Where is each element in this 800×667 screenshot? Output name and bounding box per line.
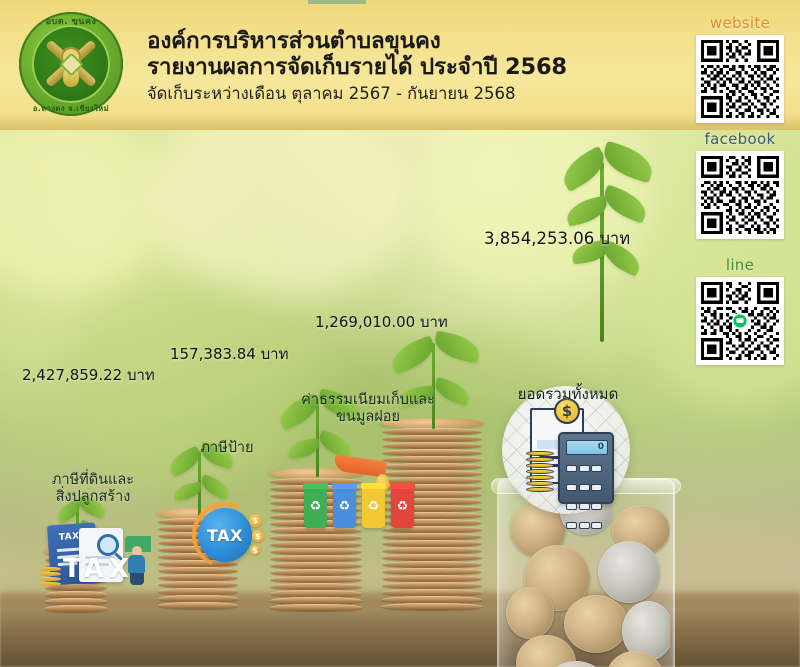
qr-line-label: line bbox=[680, 256, 800, 274]
caption-line-2: ขนมูลฝอย bbox=[298, 409, 438, 426]
qr-line[interactable]: line bbox=[680, 256, 800, 369]
calculator-money-icon: $ 0 bbox=[502, 386, 630, 514]
calculator-keypad bbox=[566, 460, 610, 536]
caption-line-1: ค่าธรรมเนียมเก็บและ bbox=[298, 392, 438, 409]
bokeh-blob bbox=[0, 130, 160, 290]
qr-facebook-image[interactable] bbox=[696, 151, 784, 239]
value-garbage-fee: 1,269,010.00 บาท bbox=[315, 310, 448, 334]
bin-yellow: ♻ bbox=[362, 488, 385, 528]
bokeh-blob bbox=[150, 130, 410, 300]
person-icon bbox=[127, 546, 147, 586]
caption-garbage-fee: ค่าธรรมเนียมเก็บและ ขนมูลฝอย bbox=[298, 392, 438, 426]
value-grand-total: 3,854,253.06 บาท bbox=[484, 226, 630, 252]
tax-circle-icon: TAX $ $ $ bbox=[190, 502, 264, 568]
header-text-group: องค์การบริหารส่วนตำบลขุนคง รายงานผลการจั… bbox=[147, 28, 667, 104]
qr-line-image[interactable] bbox=[696, 277, 784, 365]
caption-line-2: สิ่งปลูกสร้าง bbox=[18, 489, 168, 506]
value-signboard-tax: 157,383.84 บาท bbox=[170, 342, 288, 366]
bin-green: ♻ bbox=[304, 488, 327, 528]
value-land-building-tax: 2,427,859.22 บาท bbox=[22, 363, 155, 387]
page-title: องค์การบริหารส่วนตำบลขุนคง bbox=[147, 28, 667, 54]
page-subtitle-report: รายงานผลการจัดเก็บรายได้ ประจำปี 2568 bbox=[147, 54, 667, 80]
organization-logo: อบต. ขุนคง อ.หางดง จ.เชียงใหม่ bbox=[10, 5, 132, 123]
caption-land-building-tax: ภาษีที่ดินและ สิ่งปลูกสร้าง bbox=[18, 472, 168, 506]
caption-grand-total: ยอดรวมทั้งหมด bbox=[498, 386, 638, 404]
tax-documents-icon: TAX TAX bbox=[35, 520, 153, 598]
coin-pile-icon bbox=[39, 564, 61, 586]
calculator-icon: 0 bbox=[558, 432, 614, 504]
qr-website[interactable]: website bbox=[680, 14, 800, 127]
qr-website-label: website bbox=[680, 14, 800, 32]
header-accent-strip bbox=[308, 0, 366, 4]
bin-blue: ♻ bbox=[333, 488, 356, 528]
caption-signboard-tax: ภาษีป้าย bbox=[165, 440, 289, 457]
calculator-display: 0 bbox=[566, 440, 608, 455]
tax-circle-label: TAX bbox=[207, 526, 243, 545]
tax-big-letters: TAX bbox=[63, 554, 134, 584]
qr-website-image[interactable] bbox=[696, 35, 784, 123]
recycle-bins-icon: ♻ ♻ ♻ ♻ bbox=[302, 458, 434, 528]
logo-bottom-text: อ.หางดง จ.เชียงใหม่ bbox=[10, 103, 132, 115]
qr-facebook[interactable]: facebook bbox=[680, 130, 800, 243]
magnifier-icon bbox=[97, 534, 119, 556]
revenue-report-infographic: อบต. ขุนคง อ.หางดง จ.เชียงใหม่ องค์การบร… bbox=[0, 0, 800, 667]
coin-stack-icon bbox=[526, 448, 554, 492]
caption-line-1: ภาษีป้าย bbox=[165, 440, 289, 457]
bin-red: ♻ bbox=[391, 488, 414, 528]
qr-facebook-label: facebook bbox=[680, 130, 800, 148]
report-period: จัดเก็บระหว่างเดือน ตุลาคม 2567 - กันยาย… bbox=[147, 84, 667, 104]
tax-doc-label: TAX bbox=[58, 532, 80, 543]
caption-line-1: ภาษีที่ดินและ bbox=[18, 472, 168, 489]
